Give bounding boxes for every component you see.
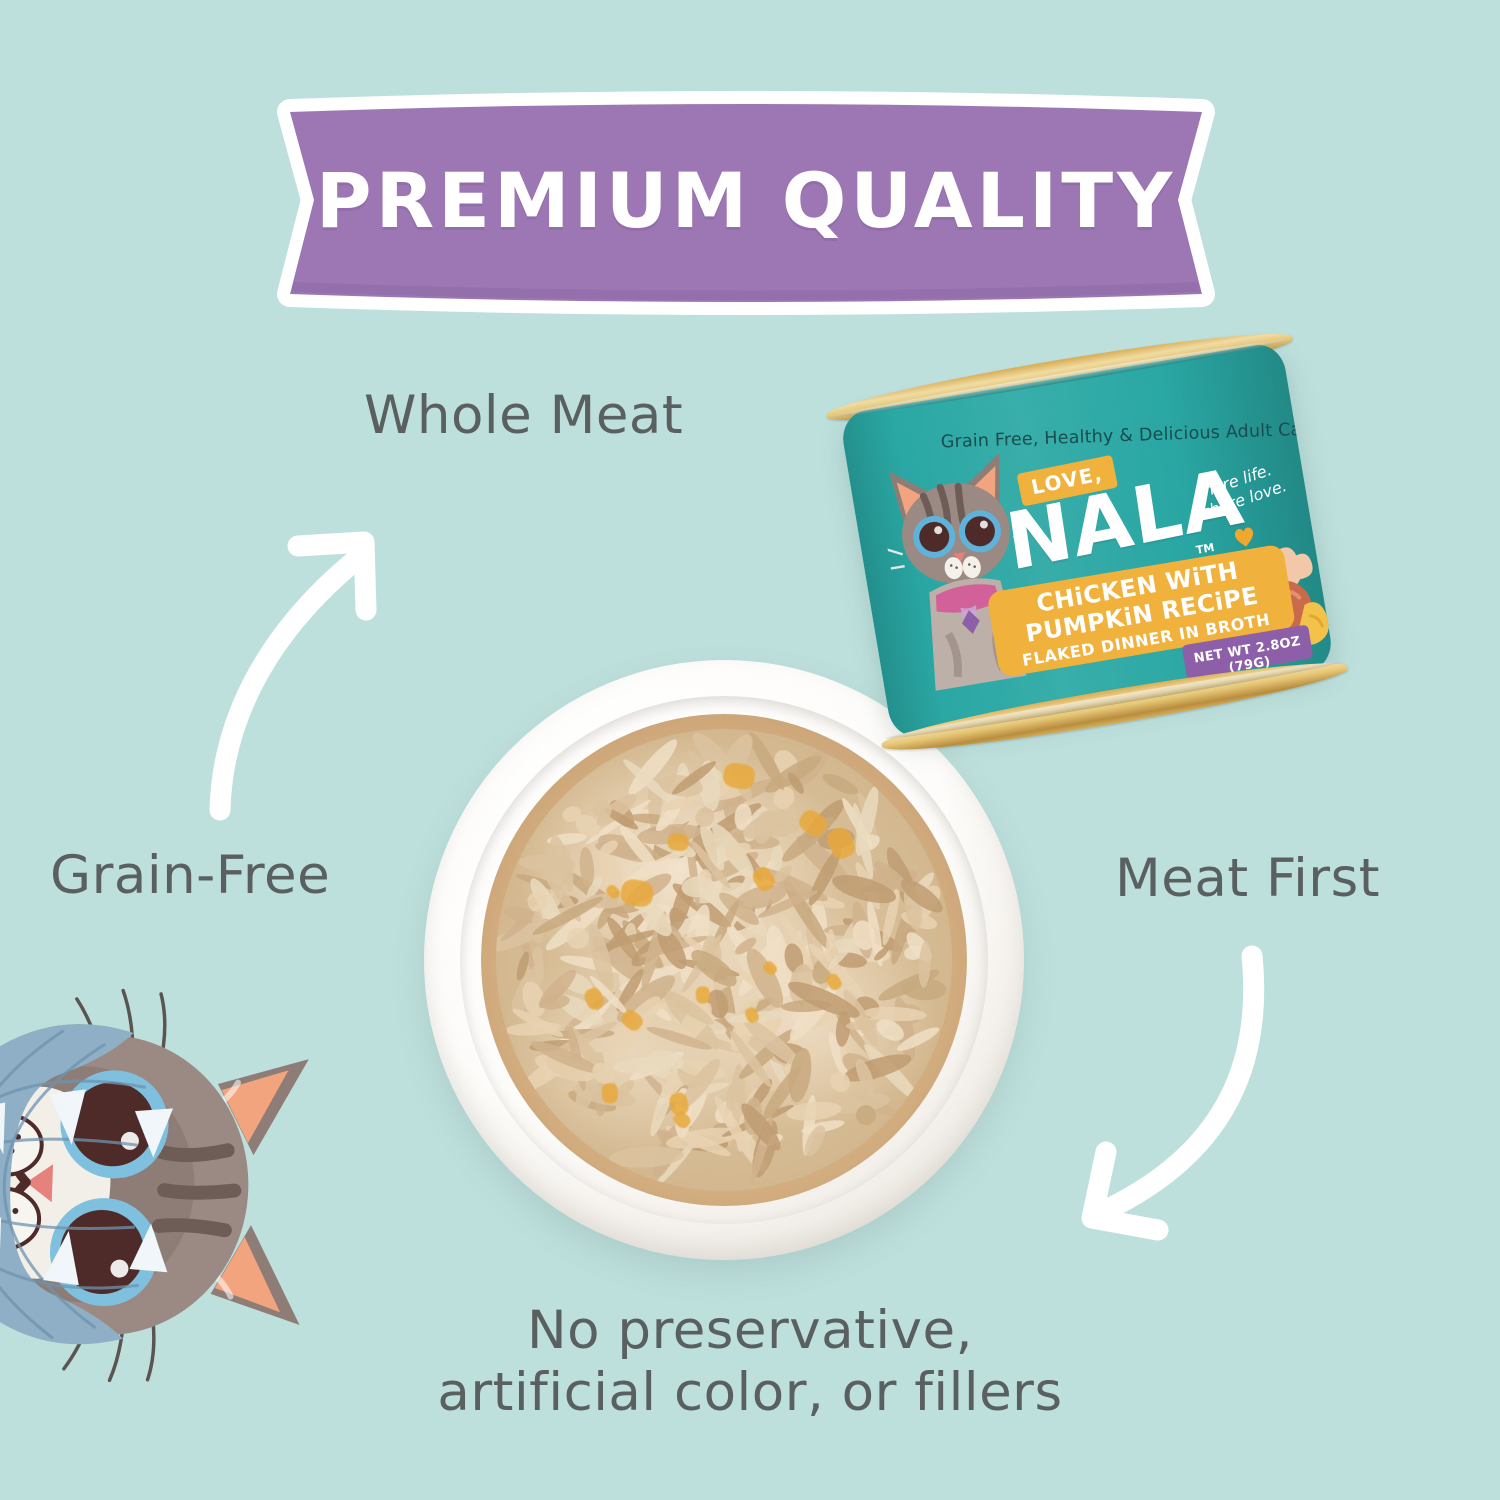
arrow-down-left-icon <box>1040 940 1300 1260</box>
banner-title: PREMIUM QUALITY <box>276 96 1216 310</box>
poster-canvas: PREMIUM QUALITY Whole Meat Grain-Free Me… <box>0 0 1500 1500</box>
corner-cat-mascot <box>0 952 346 1438</box>
bowl-interior <box>481 714 967 1206</box>
feature-label-grain-free: Grain-Free <box>50 845 330 908</box>
arrow-up-right-icon <box>180 490 420 830</box>
product-can: Grain Free, Healthy & Delicious Adult Ca… <box>817 315 1355 779</box>
feature-label-whole-meat: Whole Meat <box>364 385 683 448</box>
premium-quality-banner: PREMIUM QUALITY <box>276 96 1216 310</box>
shredded-chicken <box>496 729 953 1191</box>
feature-label-meat-first: Meat First <box>1115 848 1380 911</box>
